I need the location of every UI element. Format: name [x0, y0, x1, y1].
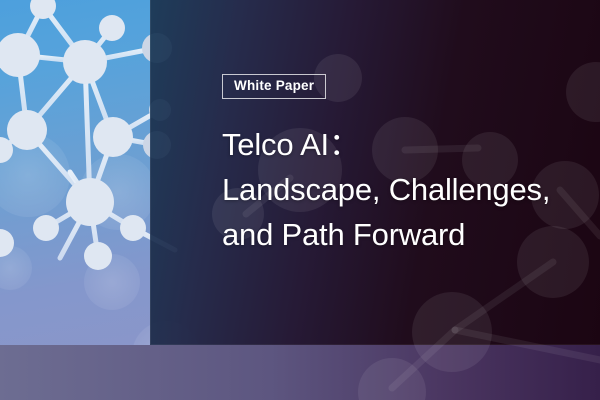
whitepaper-cover: White Paper Telco AI： Landscape, Challen… — [0, 0, 600, 400]
page-title: Telco AI： Landscape, Challenges, and Pat… — [222, 122, 592, 258]
white-paper-badge: White Paper — [222, 74, 326, 99]
cover-content: White Paper Telco AI： Landscape, Challen… — [222, 74, 592, 257]
